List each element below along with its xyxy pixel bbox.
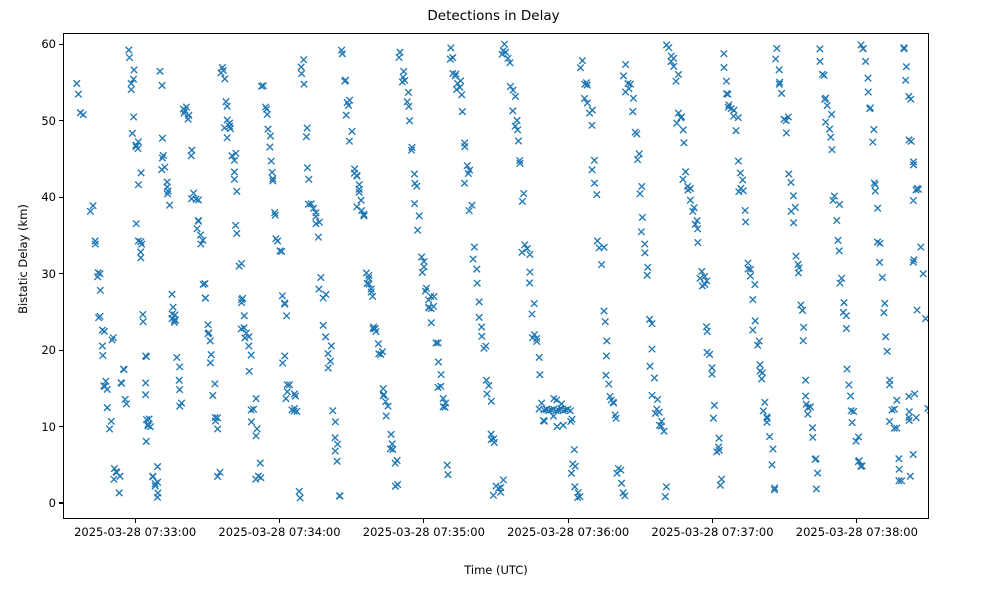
scatter-points-svg [64,34,928,518]
y-tick-label: 60 [41,37,56,51]
x-tick-mark [712,519,713,523]
x-tick-label: 2025-03-28 07:35:00 [363,525,485,539]
page-title: Detections in Delay [0,8,987,24]
scatter-marker-path [74,41,928,501]
y-tick-mark [59,502,63,503]
y-tick-label: 40 [41,190,56,204]
x-tick-mark [856,519,857,523]
y-tick-label: 10 [41,420,56,434]
x-tick-mark [135,519,136,523]
x-tick-mark [423,519,424,523]
plot-axes [63,33,929,519]
y-tick-label: 50 [41,114,56,128]
y-tick-label: 30 [41,267,56,281]
y-tick-mark [59,273,63,274]
y-tick-label: 0 [49,496,56,510]
y-axis-label: Bistatic Delay (km) [16,139,30,379]
x-tick-label: 2025-03-28 07:34:00 [218,525,340,539]
x-tick-label: 2025-03-28 07:36:00 [507,525,629,539]
scatter-series [74,41,928,501]
scatter-data-layer [64,34,928,518]
x-tick-mark [279,519,280,523]
x-tick-label: 2025-03-28 07:33:00 [74,525,196,539]
y-tick-mark [59,350,63,351]
x-tick-mark [568,519,569,523]
y-tick-mark [59,426,63,427]
y-tick-mark [59,44,63,45]
matplotlib-figure: Detections in Delay 2025-03-28 07:33:002… [0,0,987,590]
y-tick-mark [59,197,63,198]
x-axis-label: Time (UTC) [63,563,929,577]
y-tick-label: 20 [41,343,56,357]
x-tick-label: 2025-03-28 07:37:00 [651,525,773,539]
y-tick-mark [59,120,63,121]
x-tick-label: 2025-03-28 07:38:00 [796,525,918,539]
